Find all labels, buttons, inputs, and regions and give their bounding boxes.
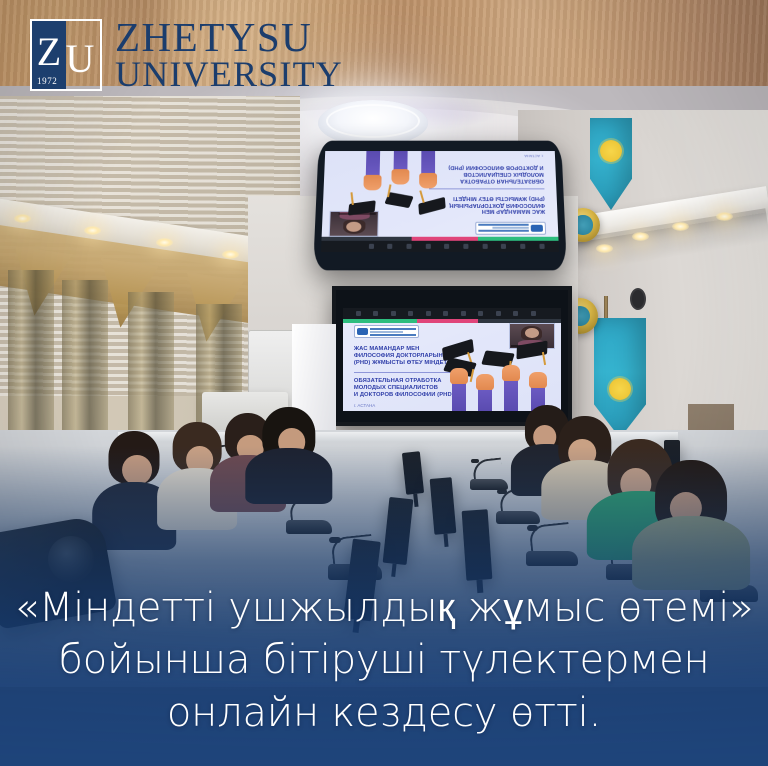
graduation-cap-icon bbox=[348, 202, 374, 214]
video-toolbar-strip bbox=[322, 237, 558, 241]
slide-logo-badge bbox=[354, 325, 419, 338]
graduation-cap-icon bbox=[386, 194, 412, 206]
main-presentation-screen: ЖАС МАМАНДАР МЕН ФИЛОСОФИЯ ДОКТОРЛАРЫНЫҢ… bbox=[332, 286, 572, 426]
ceiling-spotlight bbox=[84, 226, 101, 235]
ceiling-spotlight bbox=[596, 244, 613, 253]
caption-text: «Міндетті ушжылдық жұмыс өтемі» бойынша … bbox=[0, 582, 768, 740]
slide-main: ЖАС МАМАНДАР МЕН ФИЛОСОФИЯ ДОКТОРЛАРЫНЫҢ… bbox=[343, 308, 561, 411]
logo-right-half: U bbox=[66, 21, 100, 89]
poster-image: ЖАС МАМАНДАР МЕН ФИЛОСОФИЯ ДОКТОРЛАРЫНЫҢ… bbox=[0, 0, 768, 766]
slide-footer-city: г. АСТАНА bbox=[524, 154, 543, 159]
ceiling-spotlight bbox=[716, 212, 733, 221]
raised-hand-illustration bbox=[366, 151, 380, 178]
slide-footer-city: г. АСТАНА bbox=[354, 403, 375, 408]
slide-mirrored: ЖАС МАМАНДАР МЕН ФИЛОСОФИЯ ДОКТОРЛАРЫНЫҢ… bbox=[321, 151, 558, 252]
caption-line-1: «Міндетті ушжылдық жұмыс өтемі» bbox=[2, 582, 766, 635]
logo-year: 1972 bbox=[37, 76, 57, 86]
graduation-cap-icon bbox=[419, 200, 445, 212]
ceiling-projection-screen: ЖАС МАМАНДАР МЕН ФИЛОСОФИЯ ДОКТОРЛАРЫНЫҢ… bbox=[313, 141, 567, 271]
ceiling-lamp-ring bbox=[326, 104, 420, 138]
caption-line-2: бойынша бітіруші түлектермен bbox=[2, 634, 766, 687]
raised-hand-illustration bbox=[422, 151, 436, 177]
graduation-cap-icon bbox=[483, 352, 513, 366]
ceiling-spotlight bbox=[222, 250, 239, 259]
brand-name-line-1: ZHETYSU bbox=[115, 18, 343, 57]
video-toolbar bbox=[343, 308, 561, 318]
ceiling-spotlight bbox=[632, 232, 649, 241]
raised-hand-illustration bbox=[478, 387, 492, 412]
ceiling-spotlight bbox=[14, 214, 31, 223]
wall-clock bbox=[630, 288, 646, 310]
slide-logo-badge bbox=[475, 221, 546, 234]
ceiling-spotlight bbox=[156, 238, 173, 247]
zhetysu-logo-icon: Z 1972 U bbox=[30, 19, 102, 91]
raised-hand-illustration bbox=[452, 381, 466, 412]
graduation-cap-icon bbox=[517, 343, 547, 357]
logo-letter-u: U bbox=[66, 39, 95, 79]
brand-name-line-2: UNIVERSITY bbox=[115, 57, 343, 92]
video-participant-thumbnail bbox=[329, 211, 379, 237]
brand-wordmark: ZHETYSU UNIVERSITY bbox=[115, 18, 343, 92]
raised-hand-illustration bbox=[504, 378, 518, 411]
brand-header: Z 1972 U ZHETYSU UNIVERSITY bbox=[30, 18, 343, 92]
logo-left-half: Z 1972 bbox=[32, 21, 66, 89]
logo-letter-z: Z bbox=[37, 32, 61, 72]
raised-hand-illustration bbox=[394, 151, 408, 173]
ceiling-spotlight bbox=[672, 222, 689, 231]
caption-line-3: онлайн кездесу өтті. bbox=[2, 687, 766, 740]
video-toolbar bbox=[321, 241, 558, 251]
graduation-cap-icon bbox=[443, 343, 473, 357]
